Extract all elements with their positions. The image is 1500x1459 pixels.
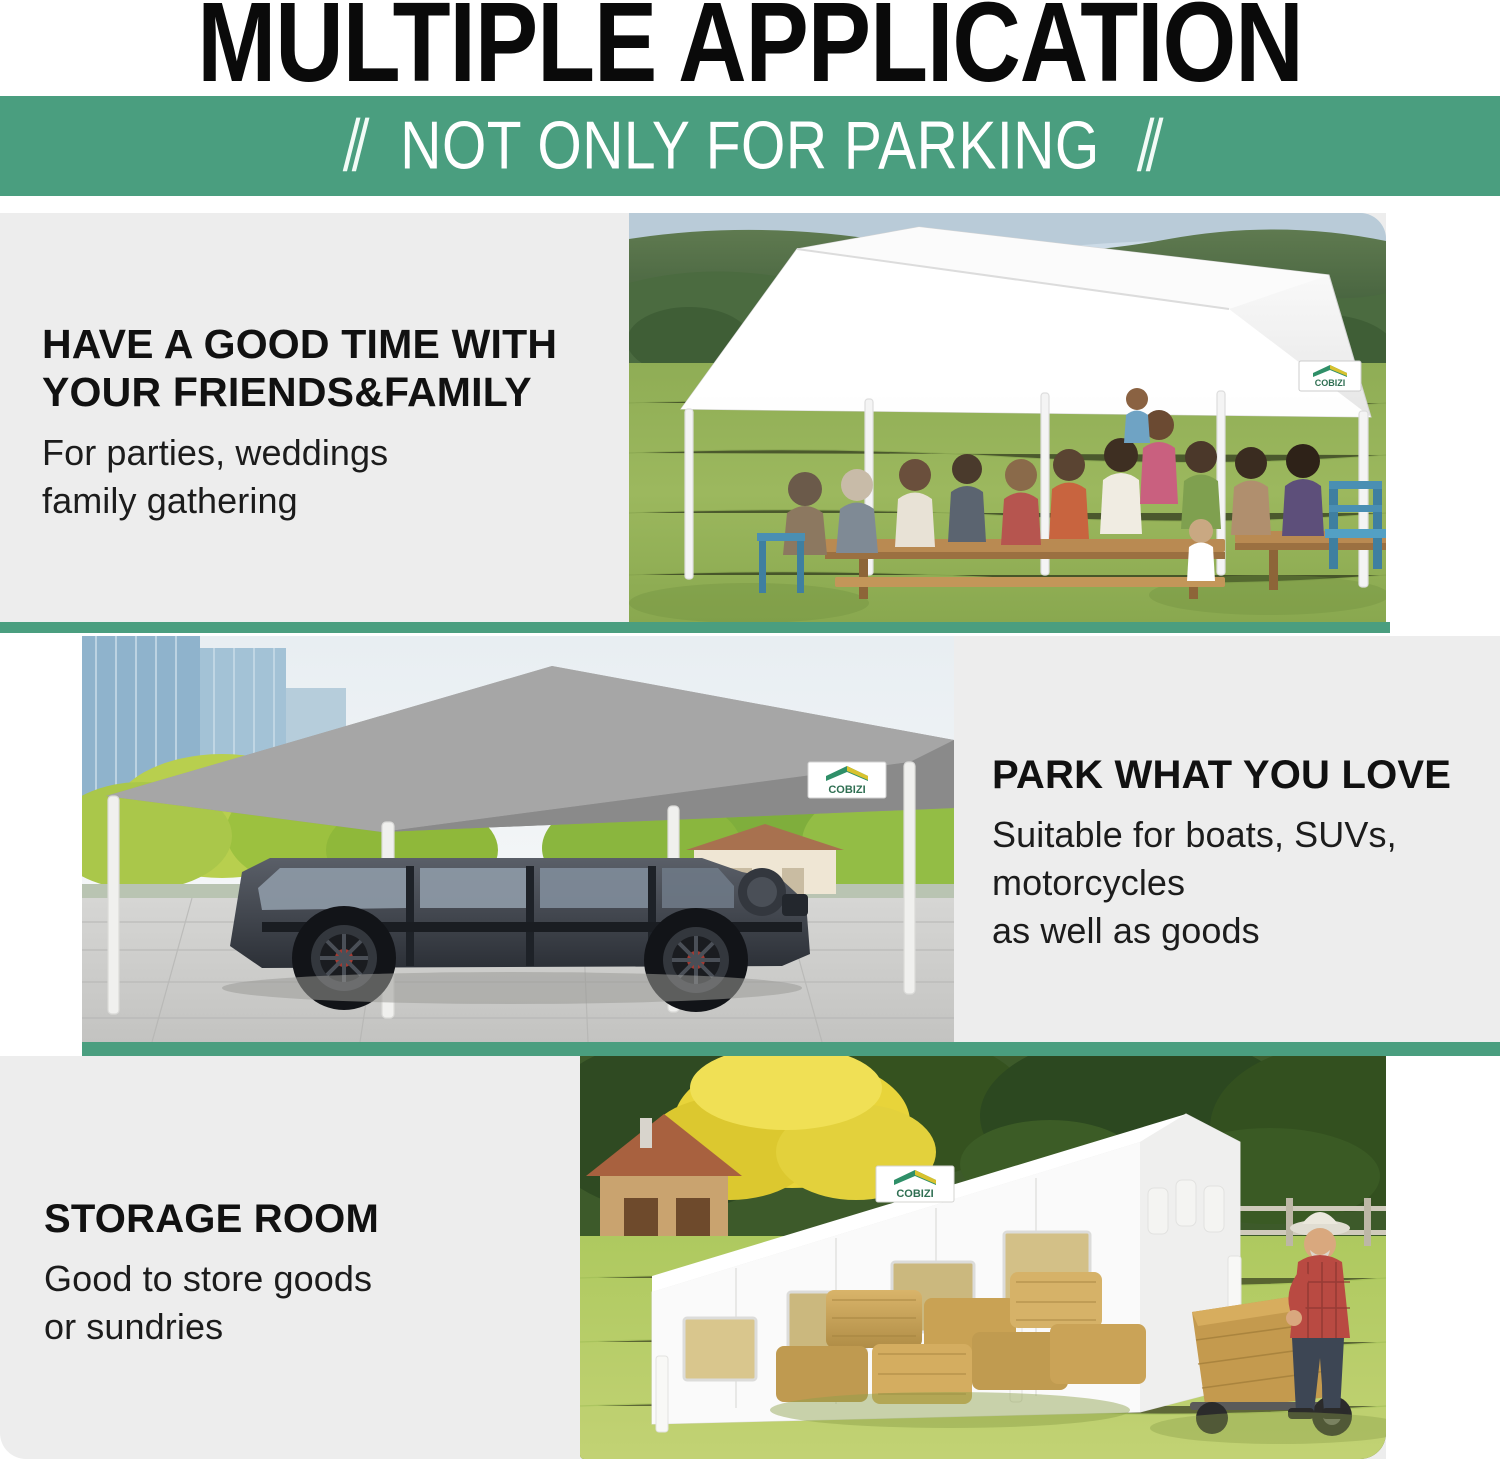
rolled-door-flaps [1148,1180,1224,1234]
panel-storage-room-text: STORAGE ROOM Good to store goods or sund… [44,1196,564,1351]
subtext-line-2: motorcycles [992,859,1492,907]
subtext-line-3: as well as goods [992,907,1492,955]
panel-friends-family-text: HAVE A GOOD TIME WITH YOUR FRIENDS&FAMIL… [42,321,642,525]
slash-right-icon: // [1136,110,1158,183]
cobizi-badge: COBIZI [876,1166,954,1202]
subtext-line-1: For parties, weddings [42,429,642,477]
header-banner: // NOT ONLY FOR PARKING // [0,96,1500,196]
cobizi-badge: COBIZI [808,762,886,798]
panel-storage-room-image: COBIZI [580,1056,1386,1459]
subtext-line-2: family gathering [42,477,642,525]
panel-storage-headline: STORAGE ROOM [44,1196,564,1243]
suv-vehicle [222,858,810,1012]
cobizi-badge: COBIZI [1299,361,1361,391]
panel-friends-family-image: COBIZI [629,213,1386,622]
panel-divider-2 [82,1042,1500,1056]
panel-park-subtext: Suitable for boats, SUVs, motorcycles as… [992,811,1492,955]
panel-park-headline: PARK WHAT YOU LOVE [992,752,1492,799]
panel-friends-family-headline: HAVE A GOOD TIME WITH YOUR FRIENDS&FAMIL… [42,321,642,417]
panel-divider-1 [0,622,1390,633]
panel-friends-family-subtext: For parties, weddings family gathering [42,429,642,525]
header-banner-text: NOT ONLY FOR PARKING [400,112,1099,179]
headline-line-1: HAVE A GOOD TIME WITH [42,321,642,369]
svg-text:COBIZI: COBIZI [828,784,865,796]
subtext-line-1: Suitable for boats, SUVs, [992,811,1492,859]
headline-line-2: YOUR FRIENDS&FAMILY [42,369,642,417]
panel-friends-family: HAVE A GOOD TIME WITH YOUR FRIENDS&FAMIL… [0,213,1386,622]
subtext-line-2: or sundries [44,1303,564,1351]
page-title: MULTIPLE APPLICATION [0,0,1500,108]
slash-left-icon: // [342,110,364,183]
svg-text:COBIZI: COBIZI [896,1188,933,1200]
panel-park-what-you-love-image: COBIZI [82,636,954,1042]
panel-park-what-you-love-text: PARK WHAT YOU LOVE Suitable for boats, S… [992,752,1492,954]
svg-text:COBIZI: COBIZI [1315,378,1346,388]
panel-storage-subtext: Good to store goods or sundries [44,1255,564,1351]
subtext-line-1: Good to store goods [44,1255,564,1303]
